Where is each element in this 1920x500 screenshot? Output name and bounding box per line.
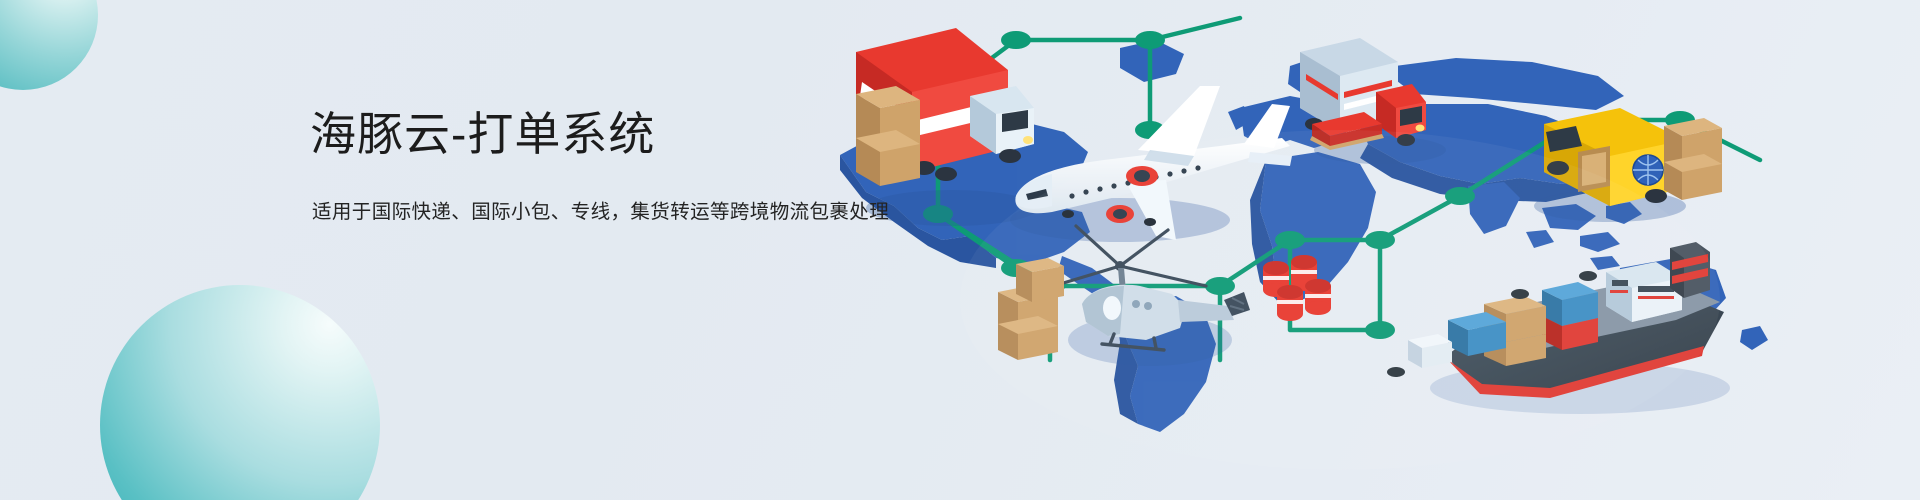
teal-gradient-circle-top-left <box>0 0 98 90</box>
page-title: 海豚云-打单系统 <box>310 108 889 161</box>
logistics-illustration <box>820 0 1920 500</box>
banner-text-block: 海豚云-打单系统 适用于国际快递、国际小包、专线，集货转运等跨境物流包裹处理 <box>310 108 889 226</box>
teal-gradient-circle-bottom-left <box>100 285 380 500</box>
hero-banner: 海豚云-打单系统 适用于国际快递、国际小包、专线，集货转运等跨境物流包裹处理 <box>0 0 1920 500</box>
page-subtitle: 适用于国际快递、国际小包、专线，集货转运等跨境物流包裹处理 <box>312 199 889 226</box>
cardboard-boxes <box>1664 118 1722 200</box>
